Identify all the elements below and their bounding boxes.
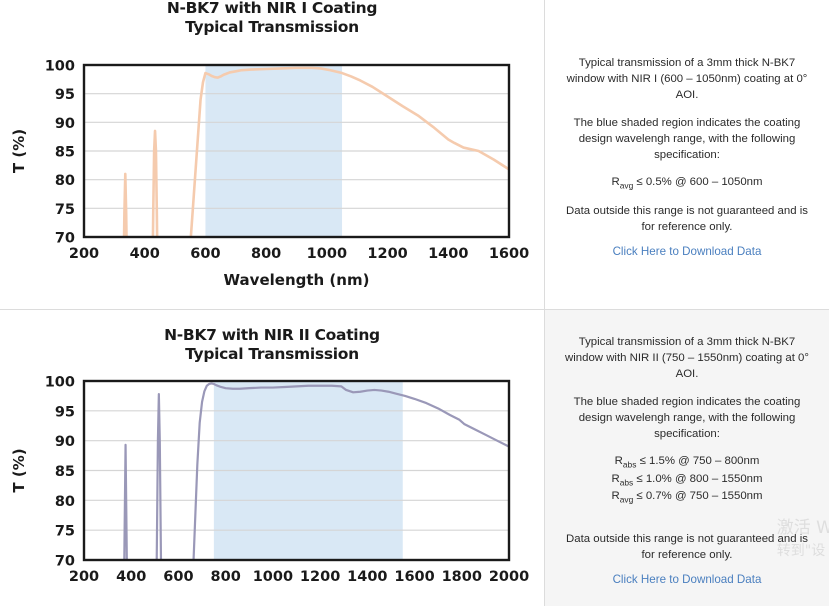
description-secondary-nir2: The blue shaded region indicates the coa… xyxy=(559,394,815,443)
x-tick-label: 1800 xyxy=(442,569,482,585)
x-tick-label: 1600 xyxy=(394,569,434,585)
y-tick-label: 80 xyxy=(55,494,75,510)
chart-title-nir2: N-BK7 with NIR II Coating Typical Transm… xyxy=(0,310,544,364)
x-tick-label: 800 xyxy=(251,246,281,262)
description-primary-nir2: Typical transmission of a 3mm thick N-BK… xyxy=(559,334,815,383)
x-tick-label: 2000 xyxy=(489,569,529,585)
y-tick-label: 100 xyxy=(45,375,75,391)
spec-line: Rabs ≤ 1.0% @ 800 – 1550nm xyxy=(611,471,762,488)
info-panel-nir2: Typical transmission of a 3mm thick N-BK… xyxy=(545,310,829,606)
spec-symbol: R xyxy=(611,490,619,502)
spec-list-nir1: Ravg ≤ 0.5% @ 600 – 1050nm xyxy=(611,174,762,191)
chart-title-line1: N-BK7 with NIR II Coating xyxy=(0,327,544,345)
disclaimer-nir1: Data outside this range is not guarantee… xyxy=(559,203,815,235)
panel-nir2: N-BK7 with NIR II Coating Typical Transm… xyxy=(0,310,829,606)
spec-subscript: avg xyxy=(620,180,634,190)
y-tick-label: 70 xyxy=(55,554,75,570)
x-tick-label: 1400 xyxy=(428,246,468,262)
description-primary-nir1: Typical transmission of a 3mm thick N-BK… xyxy=(559,55,815,104)
info-panel-nir1: Typical transmission of a 3mm thick N-BK… xyxy=(545,0,829,309)
chart-svg-transmission: 7075808590951002004006008001000120014001… xyxy=(0,52,545,310)
spec-value: ≤ 0.7% @ 750 – 1550nm xyxy=(633,490,762,502)
chart-title-line1: N-BK7 with NIR I Coating xyxy=(0,0,544,18)
spec-value: ≤ 0.5% @ 600 – 1050nm xyxy=(633,176,762,188)
spec-line: Ravg ≤ 0.7% @ 750 – 1550nm xyxy=(611,488,762,505)
download-data-link-nir1[interactable]: Click Here to Download Data xyxy=(613,245,762,258)
spec-symbol: R xyxy=(615,455,623,467)
y-tick-label: 95 xyxy=(55,87,75,103)
x-tick-label: 800 xyxy=(211,569,241,585)
spec-value: ≤ 1.5% @ 750 – 800nm xyxy=(636,455,759,467)
x-tick-label: 400 xyxy=(116,569,146,585)
y-axis-label: T (%) xyxy=(10,129,28,173)
chart-title-nir1: N-BK7 with NIR I Coating Typical Transmi… xyxy=(0,0,544,37)
y-tick-label: 85 xyxy=(55,145,75,161)
spec-subscript: abs xyxy=(620,477,634,487)
y-tick-label: 75 xyxy=(55,202,75,218)
chart-svg-wrap-nir1: 7075808590951002004006008001000120014001… xyxy=(0,52,545,315)
y-tick-label: 90 xyxy=(55,116,75,132)
spec-symbol: R xyxy=(611,176,619,188)
y-tick-label: 80 xyxy=(55,173,75,189)
y-tick-label: 95 xyxy=(55,404,75,420)
spec-subscript: avg xyxy=(620,494,634,504)
panel-nir1: N-BK7 with NIR I Coating Typical Transmi… xyxy=(0,0,829,310)
x-tick-label: 600 xyxy=(190,246,220,262)
x-tick-label: 1200 xyxy=(367,246,407,262)
spec-line: Rabs ≤ 1.5% @ 750 – 800nm xyxy=(611,453,762,470)
x-tick-label: 600 xyxy=(163,569,193,585)
x-tick-label: 400 xyxy=(130,246,160,262)
spec-list-nir2: Rabs ≤ 1.5% @ 750 – 800nmRabs ≤ 1.0% @ 8… xyxy=(611,453,762,505)
spec-symbol: R xyxy=(611,473,619,485)
y-tick-label: 85 xyxy=(55,464,75,480)
download-data-link-nir2[interactable]: Click Here to Download Data xyxy=(613,573,762,586)
x-tick-label: 1200 xyxy=(300,569,340,585)
chart-svg-wrap-nir2: 7075808590951002004006008001000120014001… xyxy=(0,368,545,606)
x-tick-label: 1000 xyxy=(307,246,347,262)
description-secondary-nir1: The blue shaded region indicates the coa… xyxy=(559,115,815,164)
disclaimer-nir2: Data outside this range is not guarantee… xyxy=(559,531,815,563)
spec-subscript: abs xyxy=(623,459,637,469)
x-tick-label: 200 xyxy=(69,246,99,262)
y-tick-label: 100 xyxy=(45,59,75,75)
chart-svg-transmission: 7075808590951002004006008001000120014001… xyxy=(0,368,545,606)
y-axis-label: T (%) xyxy=(10,448,28,492)
chart-cell-nir1: N-BK7 with NIR I Coating Typical Transmi… xyxy=(0,0,545,309)
spec-line: Ravg ≤ 0.5% @ 600 – 1050nm xyxy=(611,174,762,191)
y-tick-label: 70 xyxy=(55,231,75,247)
spec-value: ≤ 1.0% @ 800 – 1550nm xyxy=(633,473,762,485)
chart-title-line2: Typical Transmission xyxy=(0,345,544,364)
x-tick-label: 1600 xyxy=(489,246,529,262)
y-tick-label: 90 xyxy=(55,434,75,450)
chart-cell-nir2: N-BK7 with NIR II Coating Typical Transm… xyxy=(0,310,545,606)
chart-title-line2: Typical Transmission xyxy=(0,18,544,37)
x-tick-label: 1000 xyxy=(253,569,293,585)
x-tick-label: 200 xyxy=(69,569,99,585)
page-root: N-BK7 with NIR I Coating Typical Transmi… xyxy=(0,0,829,606)
x-tick-label: 1400 xyxy=(347,569,387,585)
y-tick-label: 75 xyxy=(55,524,75,540)
x-axis-label: Wavelength (nm) xyxy=(224,271,370,289)
